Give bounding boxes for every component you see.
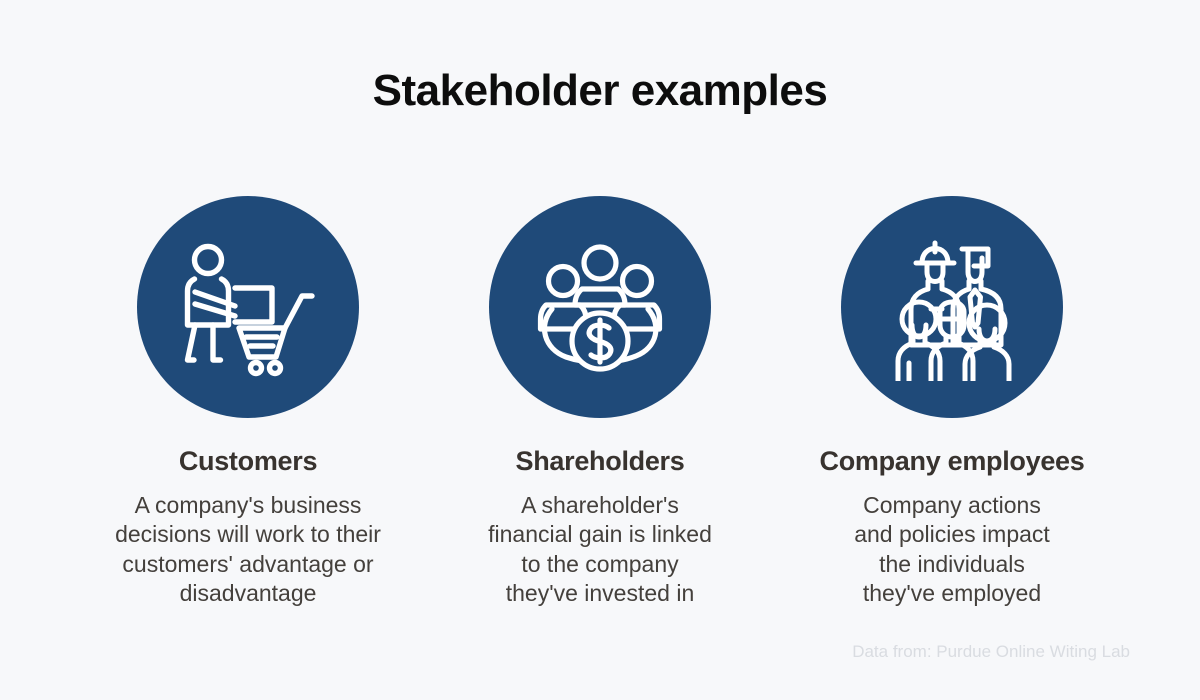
body-line: Company actions: [854, 491, 1050, 520]
stakeholder-columns: Customers A company's business decisions…: [0, 196, 1200, 609]
stakeholder-column-customers: Customers A company's business decisions…: [72, 196, 424, 609]
shareholders-icon-badge: [489, 196, 711, 418]
column-heading: Company employees: [820, 446, 1085, 477]
body-line: decisions will work to their: [115, 520, 381, 549]
column-body: A company's business decisions will work…: [115, 491, 381, 609]
customers-icon-badge: [137, 196, 359, 418]
body-line: they've invested in: [488, 579, 712, 608]
body-line: financial gain is linked: [488, 520, 712, 549]
stakeholder-column-shareholders: Shareholders A shareholder's financial g…: [424, 196, 776, 609]
body-line: and policies impact: [854, 520, 1050, 549]
column-heading: Customers: [179, 446, 317, 477]
body-line: A shareholder's: [488, 491, 712, 520]
body-line: disadvantage: [115, 579, 381, 608]
column-body: Company actions and policies impact the …: [854, 491, 1050, 609]
column-heading: Shareholders: [516, 446, 685, 477]
stakeholder-infographic: Stakeholder examples: [0, 0, 1200, 700]
page-title: Stakeholder examples: [0, 66, 1200, 116]
stakeholder-column-company-employees: Company employees Company actions and po…: [776, 196, 1128, 609]
company-employees-icon-badge: [841, 196, 1063, 418]
company-employees-group-icon: [882, 233, 1022, 381]
body-line: they've employed: [854, 579, 1050, 608]
customer-shopping-cart-icon: [173, 232, 323, 382]
column-body: A shareholder's financial gain is linked…: [488, 491, 712, 609]
body-line: A company's business: [115, 491, 381, 520]
body-line: the individuals: [854, 550, 1050, 579]
body-line: customers' advantage or: [115, 550, 381, 579]
data-source-attribution: Data from: Purdue Online Witing Lab: [852, 642, 1130, 662]
body-line: to the company: [488, 550, 712, 579]
shareholders-money-group-icon: [530, 237, 670, 377]
